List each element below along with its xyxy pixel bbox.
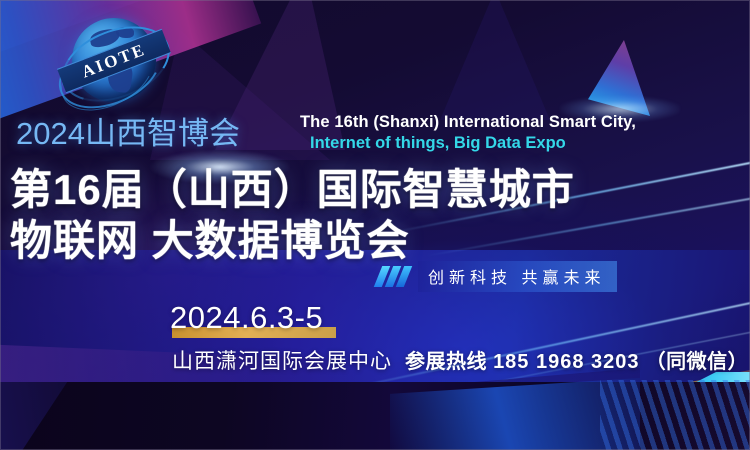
hotline-number: 185 1968 3203 bbox=[493, 351, 639, 373]
hotline-label: 参展热线 bbox=[405, 351, 487, 373]
background-facet-c bbox=[440, 0, 550, 120]
event-venue: 山西潇河国际会展中心 bbox=[172, 345, 392, 375]
english-title-line2: Internet of things, Big Data Expo bbox=[310, 133, 720, 154]
english-title: The 16th (Shanxi) International Smart Ci… bbox=[300, 112, 720, 154]
main-headline: 第16届（山西）国际智慧城市 物联网 大数据博览会 bbox=[10, 166, 650, 264]
bottom-ray-stripes bbox=[600, 380, 750, 450]
triple-slash-icon bbox=[378, 266, 408, 287]
headline-line2: 物联网 大数据博览会 bbox=[10, 217, 650, 264]
tagline-block: 创新科技 共赢未来 bbox=[378, 262, 617, 290]
event-date-block: 2024.6.3-5 bbox=[170, 300, 323, 336]
aiote-logo: AIOTE bbox=[56, 12, 174, 112]
english-title-line1: The 16th (Shanxi) International Smart Ci… bbox=[300, 112, 720, 133]
expo-poster: AIOTE 2024山西智博会 The 16th (Shanxi) Intern… bbox=[0, 0, 750, 450]
hotline-block: 参展热线 185 1968 3203 （同微信） bbox=[405, 345, 748, 374]
hotline-note: （同微信） bbox=[646, 351, 749, 373]
sub-brand-title: 2024山西智博会 bbox=[16, 108, 240, 153]
tagline-text: 创新科技 共赢未来 bbox=[418, 261, 617, 292]
headline-line1: 第16届（山西）国际智慧城市 bbox=[10, 166, 650, 213]
event-date: 2024.6.3-5 bbox=[170, 300, 323, 336]
